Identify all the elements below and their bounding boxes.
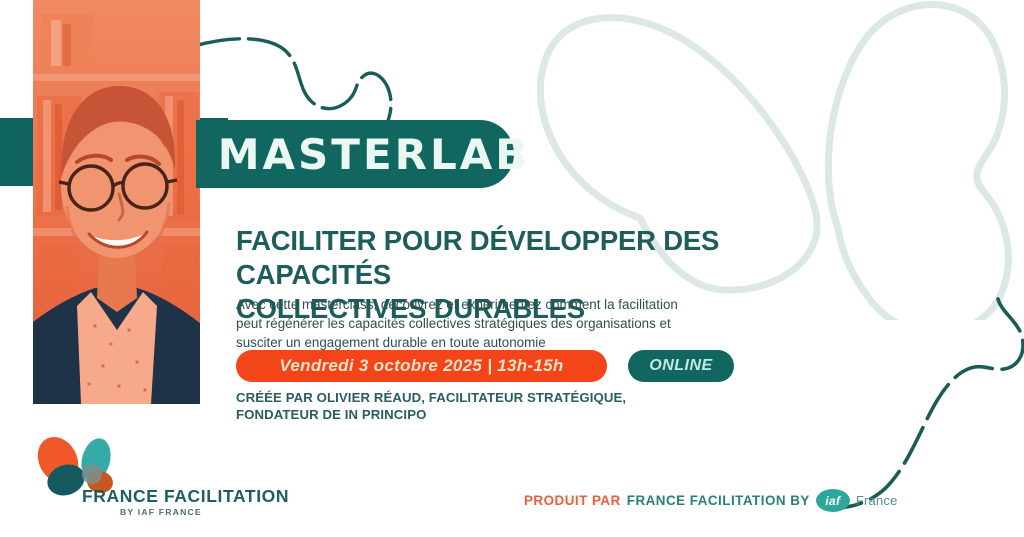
masterlab-label: MASTERLAB xyxy=(180,130,531,179)
producer-credit: PRODUIT PAR FRANCE FACILITATION BY iaf F… xyxy=(524,489,898,512)
credit-line-2: FONDATEUR DE IN PRINCIPO xyxy=(236,407,716,424)
date-label: Vendredi 3 octobre 2025 | 13h-15h xyxy=(279,356,563,376)
headline-line-1: FACILITER POUR DÉVELOPPER DES CAPACITÉS xyxy=(236,224,856,292)
portrait-image xyxy=(33,0,200,404)
format-label: ONLINE xyxy=(649,357,712,375)
description-line-2: peut régénérer les capacités collectives… xyxy=(236,314,736,333)
brand-wordmark: FRANCE FACILITATION xyxy=(82,486,289,507)
france-facilitation-logo: FRANCE FACILITATION BY IAF FRANCE xyxy=(28,436,238,528)
description-line-1: Avec cette masterclass, découvrez et exp… xyxy=(236,295,736,314)
description-text: Avec cette masterclass, découvrez et exp… xyxy=(236,295,736,352)
iaf-logo-icon: iaf xyxy=(816,489,850,512)
producer-suffix: France xyxy=(856,493,898,508)
credit-line-1: CRÉÉE PAR OLIVIER RÉAUD, FACILITATEUR ST… xyxy=(236,390,716,407)
author-credit: CRÉÉE PAR OLIVIER RÉAUD, FACILITATEUR ST… xyxy=(236,390,716,424)
producer-name: FRANCE FACILITATION BY xyxy=(627,493,810,508)
format-badge: ONLINE xyxy=(628,350,734,382)
masterlab-badge: MASTERLAB xyxy=(196,120,514,188)
brand-tagline: BY IAF FRANCE xyxy=(120,507,202,517)
portrait-olivier-reaud xyxy=(33,0,200,404)
producer-prefix: PRODUIT PAR xyxy=(524,493,621,508)
date-badge: Vendredi 3 octobre 2025 | 13h-15h xyxy=(236,350,607,382)
poster-canvas: MASTERLAB FACILITER POUR DÉVELOPPER DES … xyxy=(0,0,1024,537)
